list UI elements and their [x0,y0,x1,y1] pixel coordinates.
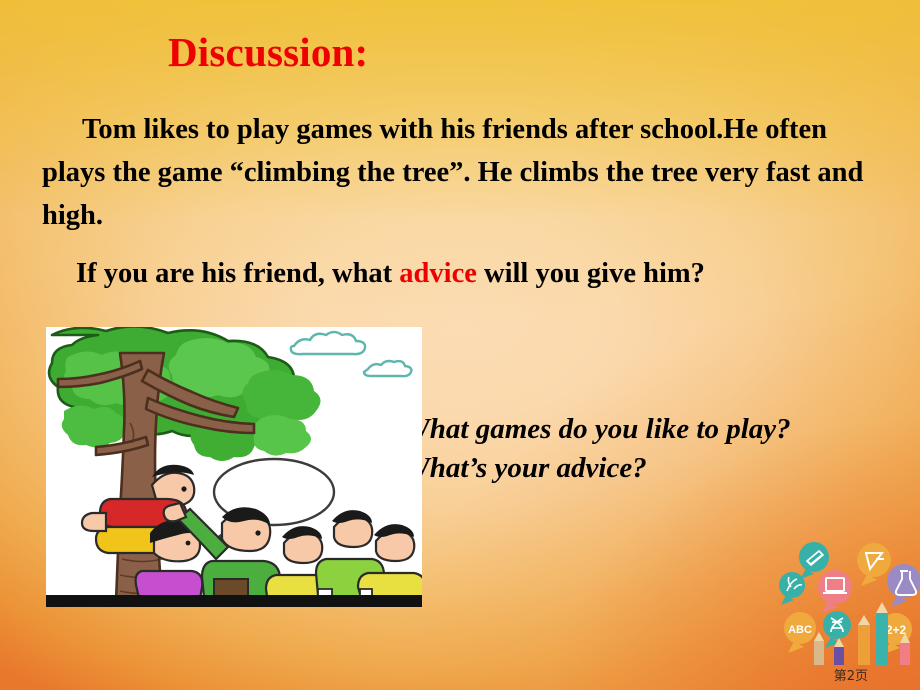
tree-climbing-illustration [46,327,422,607]
illustration-svg [46,327,422,607]
question-text-before: If you are his friend, what [76,258,399,289]
bubble-laptop [818,570,852,613]
page-title: Discussion: [168,28,368,76]
advice-question: If you are his friend, what advice will … [76,258,705,290]
decoration-svg: ABC 2+2 [778,533,920,665]
bubble-book [799,542,829,579]
abc-label: ABC [788,624,812,636]
question-text-after: will you give him? [477,258,705,289]
bubble-pencil [857,543,891,586]
bubble-plant [779,572,805,605]
slide-canvas: Discussion: Tom likes to play games with… [0,0,920,690]
question-highlight-advice: advice [399,258,477,289]
bubble-abc: ABC [784,612,816,653]
pencil-tan [814,632,824,665]
education-decoration: ABC 2+2 [778,533,920,665]
pencil-orange [858,615,870,665]
prompt-line-2: What’s your advice? [404,449,791,488]
math-label: 2+2 [886,623,907,637]
bubble-flask [887,564,920,607]
page-number: 第2页 [834,665,868,684]
prompt-line-1: What games do you like to play? [404,410,791,449]
prompt-questions: What games do you like to play? What’s y… [404,410,791,488]
pencil-teal [876,602,888,665]
discussion-paragraph: Tom likes to play games with his friends… [42,108,890,237]
